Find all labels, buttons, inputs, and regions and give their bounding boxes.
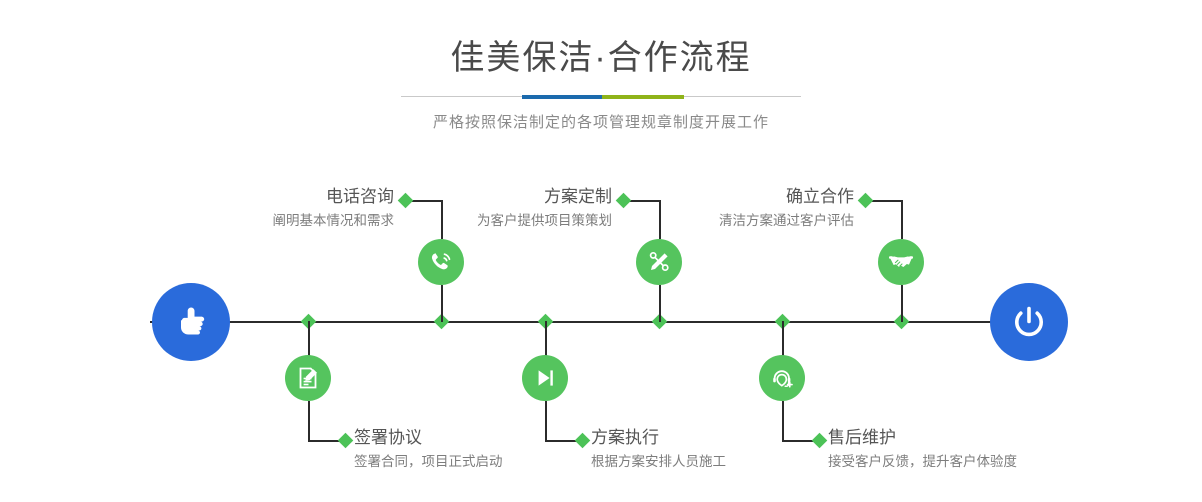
step-label-phone-consultation: 电话咨询 阐明基本情况和需求 <box>150 186 394 230</box>
step-label-plan-execution: 方案执行 根据方案安排人员施工 <box>591 427 851 471</box>
step-title: 方案执行 <box>591 427 851 448</box>
step-icon-plan-customization[interactable] <box>636 239 682 285</box>
timeline-start-node[interactable] <box>152 283 230 361</box>
timeline-elbow-v-2 <box>308 401 310 441</box>
step-icon-after-sales-maintenance[interactable] <box>759 355 805 401</box>
timeline-end-node[interactable] <box>990 283 1068 361</box>
step-label-establish-cooperation: 确立合作 清洁方案通过客户评估 <box>620 186 854 230</box>
step-icon-sign-agreement[interactable] <box>285 355 331 401</box>
step-desc: 签署合同，项目正式启动 <box>354 448 614 471</box>
step-desc: 接受客户反馈，提升客户体验度 <box>828 448 1128 471</box>
step-desc: 清洁方案通过客户评估 <box>620 207 854 230</box>
step-desc: 根据方案安排人员施工 <box>591 448 851 471</box>
timeline-elbow-v-4 <box>545 401 547 441</box>
phone-call-icon <box>427 248 455 276</box>
handshake-icon <box>887 248 915 276</box>
step-title: 电话咨询 <box>150 186 394 207</box>
headset-support-icon <box>768 364 796 392</box>
step-title: 方案定制 <box>380 186 612 207</box>
pencil-ruler-icon <box>645 248 673 276</box>
document-pencil-icon <box>294 364 322 392</box>
step-desc: 阐明基本情况和需求 <box>150 207 394 230</box>
timeline-stem-2 <box>308 321 310 356</box>
play-execute-icon <box>531 364 559 392</box>
flow-diagram-page: 佳美保洁·合作流程 严格按照保洁制定的各项管理规章制度开展工作 <box>0 0 1202 502</box>
step-desc: 为客户提供项目策策划 <box>380 207 612 230</box>
step-title: 确立合作 <box>620 186 854 207</box>
timeline-stem-4 <box>545 321 547 356</box>
step-icon-phone-consultation[interactable] <box>418 239 464 285</box>
step-icon-establish-cooperation[interactable] <box>878 239 924 285</box>
step-label-sign-agreement: 签署协议 签署合同，项目正式启动 <box>354 427 614 471</box>
timeline-stem-5 <box>901 285 903 322</box>
timeline-stem-3 <box>659 285 661 322</box>
step-icon-plan-execution[interactable] <box>522 355 568 401</box>
label-diamond-5 <box>858 193 874 209</box>
step-title: 签署协议 <box>354 427 614 448</box>
timeline-elbow-v-6 <box>782 401 784 441</box>
pointing-hand-icon <box>169 300 213 344</box>
power-icon <box>1007 300 1051 344</box>
timeline-stem-6 <box>782 321 784 356</box>
label-diamond-2 <box>338 433 354 449</box>
timeline-stem-1 <box>441 285 443 322</box>
step-label-plan-customization: 方案定制 为客户提供项目策策划 <box>380 186 612 230</box>
step-title: 售后维护 <box>828 427 1128 448</box>
process-timeline: 电话咨询 阐明基本情况和需求 签署协议 签署合同，项目正式启动 <box>0 0 1202 502</box>
timeline-elbow-v-5 <box>901 200 903 239</box>
step-label-after-sales-maintenance: 售后维护 接受客户反馈，提升客户体验度 <box>828 427 1128 471</box>
